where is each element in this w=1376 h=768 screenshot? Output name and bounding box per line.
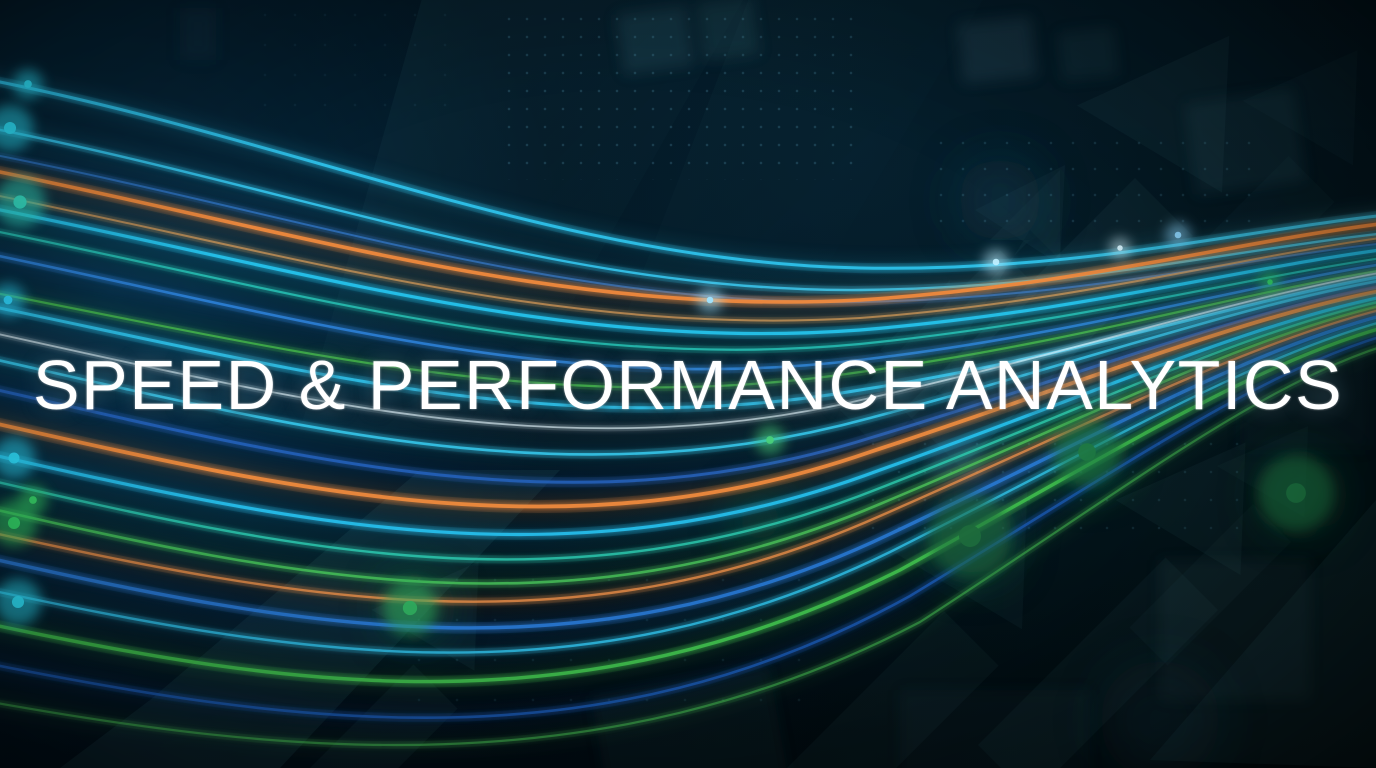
glow-dot-8 xyxy=(12,596,24,608)
glow-dot-11 xyxy=(1175,232,1182,239)
glow-dot-10 xyxy=(1117,245,1123,251)
hero-banner: SPEED & PERFORMANCE ANALYTICS xyxy=(0,0,1376,768)
hero-title-container: SPEED & PERFORMANCE ANALYTICS xyxy=(0,330,1376,440)
glow-dot-14 xyxy=(1286,483,1306,503)
glow-dot-1 xyxy=(24,80,32,88)
glow-dot-2 xyxy=(4,122,16,134)
glow-dot-9 xyxy=(993,259,1000,266)
glow-dot-5 xyxy=(9,453,20,464)
glow-dot-7 xyxy=(8,517,20,529)
glow-dot-16 xyxy=(707,297,714,304)
glow-dot-3 xyxy=(13,195,26,208)
glow-dot-18 xyxy=(403,601,417,615)
page-title: SPEED & PERFORMANCE ANALYTICS xyxy=(33,345,1343,425)
glow-dot-6 xyxy=(29,496,37,504)
glow-dot-15 xyxy=(959,525,981,547)
glow-dot-12 xyxy=(1267,279,1273,285)
glow-dot-4 xyxy=(4,296,13,305)
glow-dot-13 xyxy=(1078,443,1096,461)
